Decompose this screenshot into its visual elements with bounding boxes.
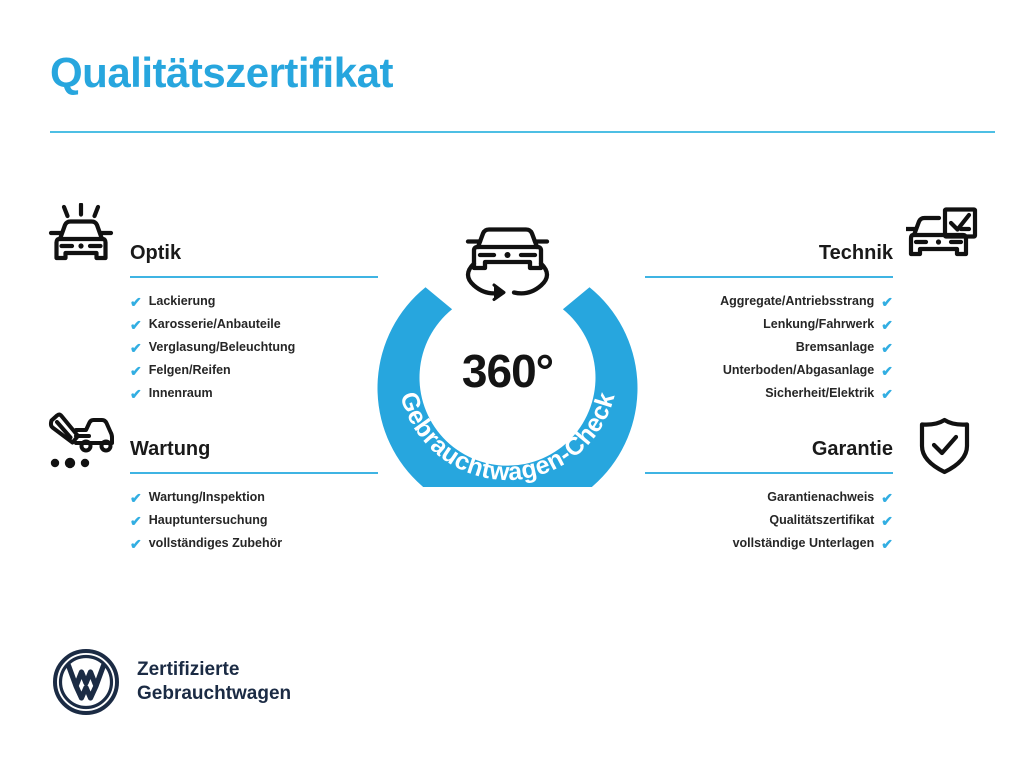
list-item: Garantienachweis ✔	[645, 486, 893, 509]
list-item-label: Karosserie/Anbauteile	[149, 313, 281, 336]
list-item-label: vollständiges Zubehör	[149, 532, 282, 555]
check-icon: ✔	[130, 341, 142, 355]
section-divider-optik	[130, 276, 378, 278]
list-item: ✔ vollständiges Zubehör	[130, 532, 378, 555]
list-item-label: Sicherheit/Elektrik	[765, 382, 874, 405]
check-icon: ✔	[881, 537, 893, 551]
check-icon: ✔	[130, 318, 142, 332]
check-icon: ✔	[881, 364, 893, 378]
section-optik: Optik ✔ Lackierung ✔ Karosserie/Anbautei…	[130, 240, 378, 405]
list-item: ✔ Hauptuntersuchung	[130, 509, 378, 532]
check-icon: ✔	[881, 387, 893, 401]
list-item: Bremsanlage ✔	[645, 336, 893, 359]
brand-line-2: Gebrauchtwagen	[137, 682, 291, 706]
list-item-label: Innenraum	[149, 382, 213, 405]
check-icon: ✔	[881, 341, 893, 355]
oil-dipstick-car-icon	[46, 412, 116, 479]
list-item-label: Garantienachweis	[767, 486, 874, 509]
check-icon: ✔	[130, 491, 142, 505]
checklist-optik: ✔ Lackierung ✔ Karosserie/Anbauteile ✔ V…	[130, 290, 378, 405]
section-wartung: Wartung ✔ Wartung/Inspektion ✔ Hauptunte…	[130, 436, 378, 555]
check-icon: ✔	[130, 364, 142, 378]
section-title-wartung: Wartung	[130, 436, 378, 462]
list-item-label: Verglasung/Beleuchtung	[149, 336, 296, 359]
check-icon: ✔	[130, 387, 142, 401]
title-divider	[50, 131, 995, 133]
list-item-label: Lackierung	[149, 290, 216, 313]
section-divider-technik	[645, 276, 893, 278]
list-item-label: Aggregate/Antriebsstrang	[720, 290, 874, 313]
section-header-wartung: Wartung	[130, 436, 378, 474]
section-title-optik: Optik	[130, 240, 378, 266]
check-icon: ✔	[881, 491, 893, 505]
list-item: Sicherheit/Elektrik ✔	[645, 382, 893, 405]
car-checkbox-icon	[906, 207, 978, 272]
badge-ring	[378, 287, 638, 487]
section-garantie: Garantie Garantienachweis ✔ Qualitätszer…	[645, 436, 893, 555]
car-rotate-icon	[468, 230, 547, 300]
list-item: ✔ Innenraum	[130, 382, 378, 405]
list-item-label: Wartung/Inspektion	[149, 486, 265, 509]
page-title: Qualitätszertifikat	[50, 50, 393, 96]
list-item: Qualitätszertifikat ✔	[645, 509, 893, 532]
checklist-wartung: ✔ Wartung/Inspektion ✔ Hauptuntersuchung…	[130, 486, 378, 555]
section-title-technik: Technik	[645, 240, 893, 266]
list-item-label: Bremsanlage	[796, 336, 875, 359]
volkswagen-logo	[52, 648, 120, 716]
checklist-garantie: Garantienachweis ✔ Qualitätszertifikat ✔…	[645, 486, 893, 555]
section-divider-wartung	[130, 472, 378, 474]
check-icon: ✔	[881, 514, 893, 528]
section-technik: Technik Aggregate/Antriebsstrang ✔ Lenku…	[645, 240, 893, 405]
list-item-label: Felgen/Reifen	[149, 359, 231, 382]
360-check-badge: Gebrauchtwagen-Check 360°	[370, 192, 645, 487]
check-icon: ✔	[130, 537, 142, 551]
section-header-optik: Optik	[130, 240, 378, 278]
checklist-technik: Aggregate/Antriebsstrang ✔ Lenkung/Fahrw…	[645, 290, 893, 405]
check-icon: ✔	[130, 295, 142, 309]
list-item: ✔ Lackierung	[130, 290, 378, 313]
car-shine-icon	[46, 203, 116, 276]
360-badge-graphic: Gebrauchtwagen-Check	[370, 192, 645, 487]
shield-check-icon	[917, 417, 972, 480]
brand-line-1: Zertifizierte	[137, 659, 239, 680]
section-header-technik: Technik	[645, 240, 893, 278]
list-item: vollständige Unterlagen ✔	[645, 532, 893, 555]
list-item-label: Lenkung/Fahrwerk	[763, 313, 874, 336]
section-header-garantie: Garantie	[645, 436, 893, 474]
list-item: Unterboden/Abgasanlage ✔	[645, 359, 893, 382]
list-item: Lenkung/Fahrwerk ✔	[645, 313, 893, 336]
check-icon: ✔	[881, 318, 893, 332]
check-icon: ✔	[130, 514, 142, 528]
list-item-label: Hauptuntersuchung	[149, 509, 268, 532]
list-item: ✔ Karosserie/Anbauteile	[130, 313, 378, 336]
list-item-label: Unterboden/Abgasanlage	[723, 359, 874, 382]
list-item: ✔ Wartung/Inspektion	[130, 486, 378, 509]
brand-text: Zertifizierte Gebrauchtwagen	[137, 658, 291, 706]
footer-brand: Zertifizierte Gebrauchtwagen	[52, 648, 291, 716]
check-icon: ✔	[881, 295, 893, 309]
section-divider-garantie	[645, 472, 893, 474]
list-item: ✔ Felgen/Reifen	[130, 359, 378, 382]
list-item: ✔ Verglasung/Beleuchtung	[130, 336, 378, 359]
section-title-garantie: Garantie	[645, 436, 893, 462]
list-item-label: vollständige Unterlagen	[733, 532, 875, 555]
list-item: Aggregate/Antriebsstrang ✔	[645, 290, 893, 313]
list-item-label: Qualitätszertifikat	[769, 509, 874, 532]
